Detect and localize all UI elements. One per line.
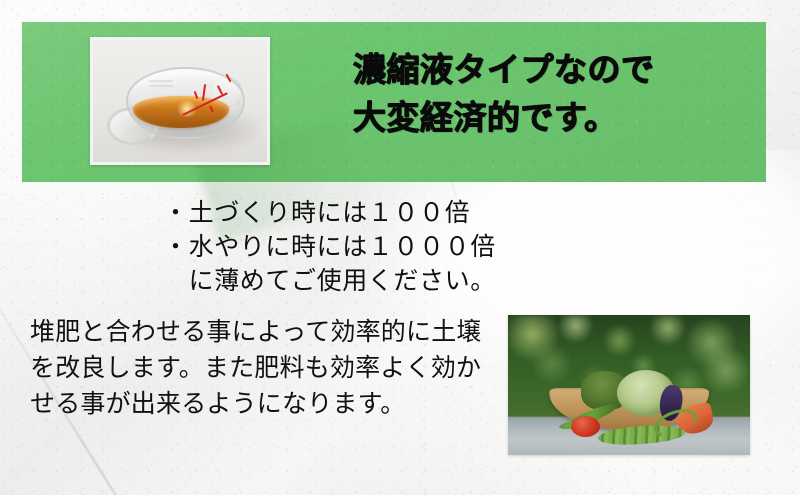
measuring-cup-image <box>93 40 267 162</box>
slide-canvas: 濃縮液タイプなので 大変経済的です。 ・土づくり時には１００倍 ・水やりに時には… <box>0 0 800 495</box>
measuring-cup-photo <box>90 37 270 165</box>
vegetables-image <box>508 315 750 455</box>
cup-embossed-scale <box>149 77 173 90</box>
photo-tone-overlay <box>508 315 750 455</box>
dilution-instructions: ・土づくり時には１００倍 ・水やりに時には１０００倍 に薄めてご使用ください。 <box>163 196 496 298</box>
harvest-vegetables-photo <box>508 315 750 455</box>
headline-title: 濃縮液タイプなので 大変経済的です。 <box>353 46 655 142</box>
description-paragraph: 堆肥と合わせる事によって効率的に土壌を改良します。また肥料も効率よく効かせる事が… <box>30 314 500 422</box>
